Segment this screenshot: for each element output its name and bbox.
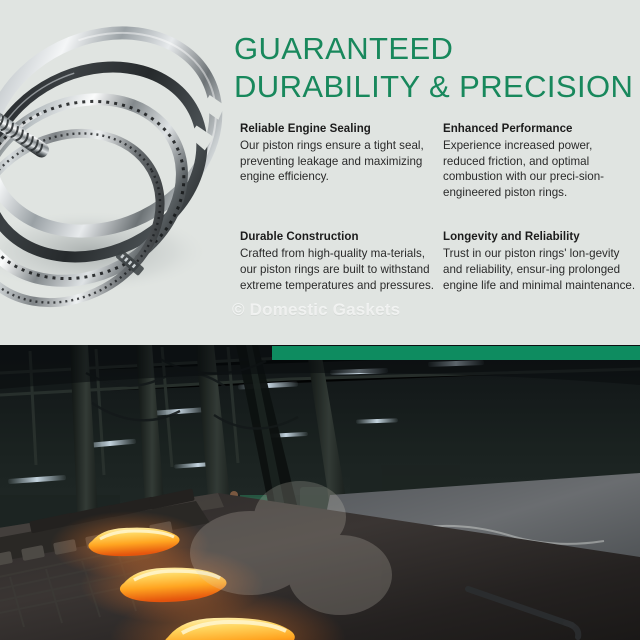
headline-line-2: DURABILITY & PRECISION	[234, 68, 634, 106]
feature-title: Longevity and Reliability	[443, 230, 637, 245]
feature-item-durable-construction: Durable Construction Crafted from high-q…	[240, 230, 438, 293]
piston-rings-image	[0, 12, 232, 322]
feature-item-longevity-and-reliability: Longevity and Reliability Trust in our p…	[443, 230, 637, 293]
foundry-image	[0, 345, 640, 640]
feature-item-reliable-engine-sealing: Reliable Engine Sealing Our piston rings…	[240, 122, 438, 200]
feature-grid: Reliable Engine Sealing Our piston rings…	[240, 122, 632, 293]
marketing-banner: GUARANTEED DURABILITY & PRECISION Reliab…	[0, 0, 640, 640]
feature-title: Reliable Engine Sealing	[240, 122, 438, 137]
top-content-panel: GUARANTEED DURABILITY & PRECISION Reliab…	[0, 0, 640, 345]
headline-line-1: GUARANTEED	[234, 30, 634, 68]
feature-body: Experience increased power, reduced fric…	[443, 138, 637, 200]
feature-item-enhanced-performance: Enhanced Performance Experience increase…	[443, 122, 637, 200]
green-accent-bar	[272, 346, 640, 360]
feature-body: Trust in our piston rings' lon-gevity an…	[443, 246, 637, 293]
feature-body: Crafted from high-quality ma-terials, ou…	[240, 246, 438, 293]
headline: GUARANTEED DURABILITY & PRECISION	[234, 30, 634, 106]
feature-body: Our piston rings ensure a tight seal, pr…	[240, 138, 438, 185]
feature-title: Durable Construction	[240, 230, 438, 245]
watermark: © Domestic Gaskets	[232, 300, 442, 320]
feature-title: Enhanced Performance	[443, 122, 637, 137]
